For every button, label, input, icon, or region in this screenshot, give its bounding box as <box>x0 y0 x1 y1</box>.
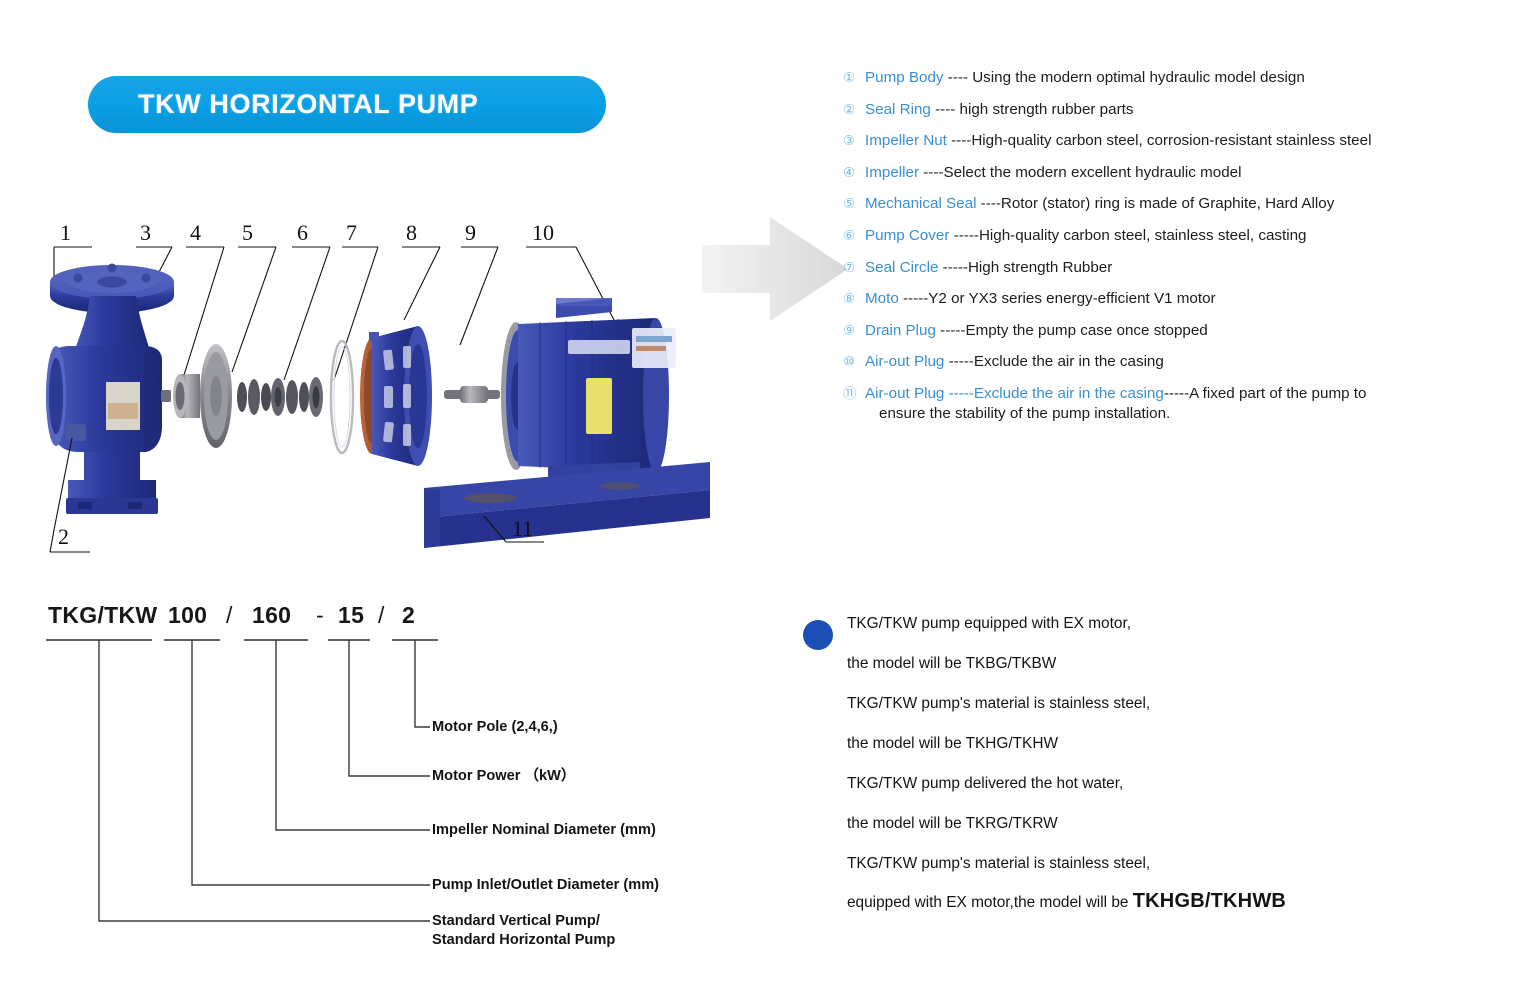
note-line-6: the model will be TKRG/TKRW <box>847 814 1443 833</box>
legend-description: Using the modern optimal hydraulic model… <box>972 69 1305 86</box>
legend-description: High-quality carbon steel, corrosion-res… <box>971 132 1371 149</box>
callout-2: 2 <box>58 524 69 549</box>
pump-cover-part <box>360 326 432 466</box>
legend-number-icon: ① <box>843 68 865 87</box>
legend-description: Rotor (stator) ring is made of Graphite,… <box>1001 195 1334 212</box>
callout-8: 8 <box>406 220 417 245</box>
note-line-7: TKG/TKW pump's material is stainless ste… <box>847 854 1443 873</box>
callout-3: 3 <box>140 220 151 245</box>
callout-11: 11 <box>512 516 533 541</box>
legend-dash: ----- <box>936 322 966 339</box>
legend-part-name: Drain Plug <box>865 322 936 339</box>
note-line-1: TKG/TKW pump equipped with EX motor, <box>847 614 1443 633</box>
legend-number-icon: ③ <box>843 131 865 150</box>
leader-label-inlet-diameter: Pump Inlet/Outlet Diameter (mm) <box>432 876 659 895</box>
legend-description: High-quality carbon steel, stainless ste… <box>979 227 1307 244</box>
legend-item-5: ⑤ Mechanical Seal ----Rotor (stator) rin… <box>843 194 1503 213</box>
legend-number-icon: ⑥ <box>843 226 865 245</box>
legend-description: Empty the pump case once stopped <box>965 322 1207 339</box>
legend-dash: ----- <box>938 259 968 276</box>
legend-dash: ----- <box>944 353 974 370</box>
legend-dash: ---- <box>944 69 973 86</box>
page-title: TKW HORIZONTAL PUMP <box>88 89 478 120</box>
legend-part-name: Seal Circle <box>865 259 938 276</box>
legend-number-icon: ② <box>843 100 865 119</box>
legend-description: Exclude the air in the casing <box>974 353 1164 370</box>
page-title-banner: TKW HORIZONTAL PUMP <box>88 76 606 133</box>
legend-description: high strength rubber parts <box>960 101 1134 118</box>
seal-circle-part <box>331 341 353 453</box>
legend-number-icon: ⑤ <box>843 194 865 213</box>
note-line-8: equipped with EX motor,the model will be… <box>847 892 1443 912</box>
legend-description: Select the modern excellent hydraulic mo… <box>943 164 1241 181</box>
legend-item-9: ⑨ Drain Plug -----Empty the pump case on… <box>843 321 1503 340</box>
note-model-code-strong: TKHGB/TKHWB <box>1133 890 1286 912</box>
callout-1: 1 <box>60 220 71 245</box>
legend-dash: ---- <box>976 195 1000 212</box>
exploded-pump-diagram: 1 3 4 5 6 7 8 9 10 <box>20 200 720 580</box>
legend-item-1: ① Pump Body ---- Using the modern optima… <box>843 68 1503 87</box>
model-code-breakdown: TKG/TKW 100 / 160 - 15 / 2 <box>40 596 740 966</box>
legend-part-name: Impeller <box>865 164 919 181</box>
leader-label-standard-pump: Standard Vertical Pump/ Standard Horizon… <box>432 912 615 950</box>
legend-part-name: Impeller Nut <box>865 132 947 149</box>
legend-dash: ---- <box>931 101 960 118</box>
legend-description: -----A fixed part of the pump to <box>1164 385 1367 402</box>
legend-item-4: ④ Impeller ----Select the modern excelle… <box>843 163 1503 182</box>
callout-10: 10 <box>532 220 554 245</box>
legend-item-6: ⑥ Pump Cover -----High-quality carbon st… <box>843 226 1503 245</box>
parts-legend-list: ① Pump Body ---- Using the modern optima… <box>843 68 1503 437</box>
legend-dash: ---- <box>947 132 971 149</box>
leader-label-line1: Standard Vertical Pump/ <box>432 913 600 929</box>
legend-part-name: Moto <box>865 290 899 307</box>
leader-label-motor-power: Motor Power （kW） <box>432 767 576 786</box>
legend-item-10: ⑩ Air-out Plug -----Exclude the air in t… <box>843 352 1503 371</box>
legend-description-continued: ensure the stability of the pump install… <box>865 404 1503 424</box>
callout-9: 9 <box>465 220 476 245</box>
callout-6: 6 <box>297 220 308 245</box>
leader-label-line2: Standard Horizontal Pump <box>432 932 615 948</box>
callout-numbers-top: 1 3 4 5 6 7 8 9 10 <box>60 220 554 245</box>
legend-item-11: ⑪ Air-out Plug -----Exclude the air in t… <box>843 384 1503 424</box>
legend-description-blue: Exclude the air in the casing <box>974 385 1164 402</box>
legend-item-8: ⑧ Moto -----Y2 or YX3 series energy-effi… <box>843 289 1503 308</box>
pump-body-part <box>46 264 174 515</box>
legend-part-name: Pump Cover <box>865 227 949 244</box>
note-line-4: the model will be TKHG/TKHW <box>847 734 1443 753</box>
leader-label-impeller-diameter: Impeller Nominal Diameter (mm) <box>432 821 656 840</box>
callout-7: 7 <box>346 220 357 245</box>
legend-number-icon: ④ <box>843 163 865 182</box>
model-code-leader-lines <box>40 596 740 966</box>
legend-dash: ----- <box>899 290 929 307</box>
callout-5: 5 <box>242 220 253 245</box>
legend-item-3: ③ Impeller Nut ----High-quality carbon s… <box>843 131 1503 150</box>
legend-dash: ----- <box>944 385 974 402</box>
motor-part <box>444 298 676 492</box>
legend-number-icon: ⑨ <box>843 321 865 340</box>
bullet-circle-icon <box>803 620 833 650</box>
legend-part-name: Air-out Plug <box>865 353 944 370</box>
legend-number-icon: ⑦ <box>843 258 865 277</box>
legend-dash: ----- <box>949 227 979 244</box>
page-canvas: TKW HORIZONTAL PUMP <box>0 0 1513 1000</box>
legend-part-name: Mechanical Seal <box>865 195 976 212</box>
legend-number-icon: ⑪ <box>843 384 865 403</box>
legend-part-name: Air-out Plug <box>865 385 944 402</box>
model-notes-block: TKG/TKW pump equipped with EX motor, the… <box>803 614 1443 933</box>
legend-description: Y2 or YX3 series energy-efficient V1 mot… <box>928 290 1215 307</box>
legend-part-name: Seal Ring <box>865 101 931 118</box>
legend-item-2: ② Seal Ring ---- high strength rubber pa… <box>843 100 1503 119</box>
note-line-8-prefix: equipped with EX motor,the model will be <box>847 894 1133 911</box>
legend-part-name: Pump Body <box>865 69 944 86</box>
note-line-5: TKG/TKW pump delivered the hot water, <box>847 774 1443 793</box>
legend-number-icon: ⑧ <box>843 289 865 308</box>
callout-4: 4 <box>190 220 201 245</box>
leader-label-motor-pole: Motor Pole (2,4,6,) <box>432 718 558 737</box>
legend-item-7: ⑦ Seal Circle -----High strength Rubber <box>843 258 1503 277</box>
legend-description: High strength Rubber <box>968 259 1112 276</box>
note-line-2: the model will be TKBG/TKBW <box>847 654 1443 673</box>
legend-number-icon: ⑩ <box>843 352 865 371</box>
note-line-3: TKG/TKW pump's material is stainless ste… <box>847 694 1443 713</box>
legend-dash: ---- <box>919 164 943 181</box>
right-arrow-icon <box>700 213 850 325</box>
impeller-part <box>173 344 232 448</box>
